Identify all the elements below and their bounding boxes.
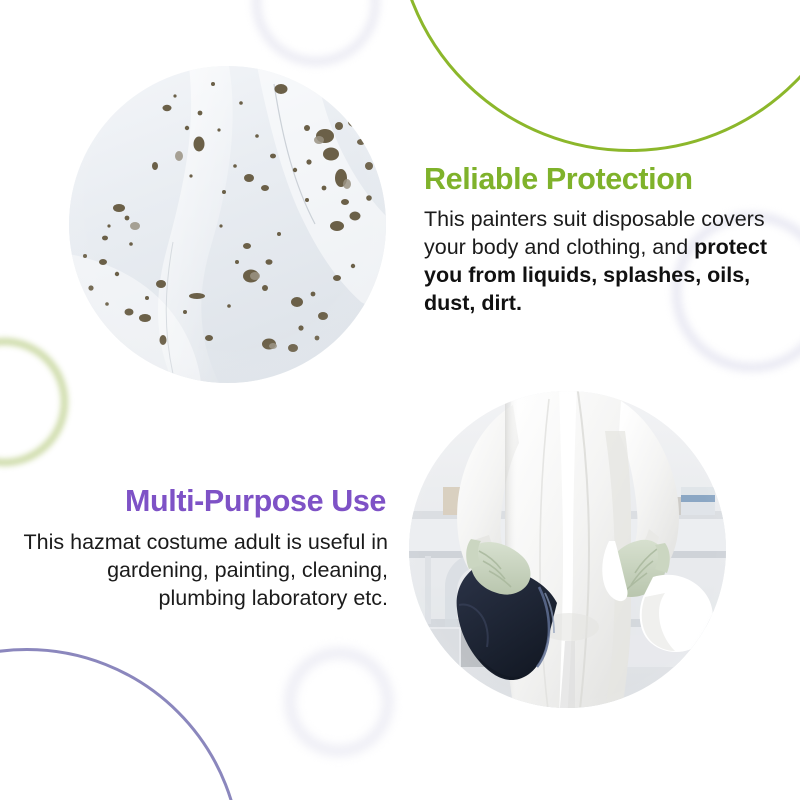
heading-multi-purpose-use: Multi-Purpose Use (14, 485, 386, 517)
body-text-multi-purpose-use: This hazmat costume adult is useful in g… (14, 529, 388, 613)
body-text-reliable-protection: This painters suit disposable covers you… (424, 206, 784, 318)
feature-block-multi-purpose-use: Multi-Purpose Use This hazmat costume ad… (14, 485, 388, 613)
decorative-ring-lavender-top (252, 0, 380, 66)
decorative-ring-lavender-bottom-mid (285, 648, 393, 756)
feature-block-reliable-protection: Reliable Protection This painters suit d… (424, 163, 784, 318)
photo-person-in-coverall (409, 391, 726, 708)
decorative-ring-green-left (0, 338, 68, 466)
decorative-ring-purple-bottom-left (0, 648, 242, 800)
photo-fabric-splatter (69, 66, 386, 383)
decorative-ring-green-top-right (395, 0, 800, 152)
infographic-canvas: Reliable Protection This painters suit d… (0, 0, 800, 800)
heading-reliable-protection: Reliable Protection (424, 163, 784, 195)
